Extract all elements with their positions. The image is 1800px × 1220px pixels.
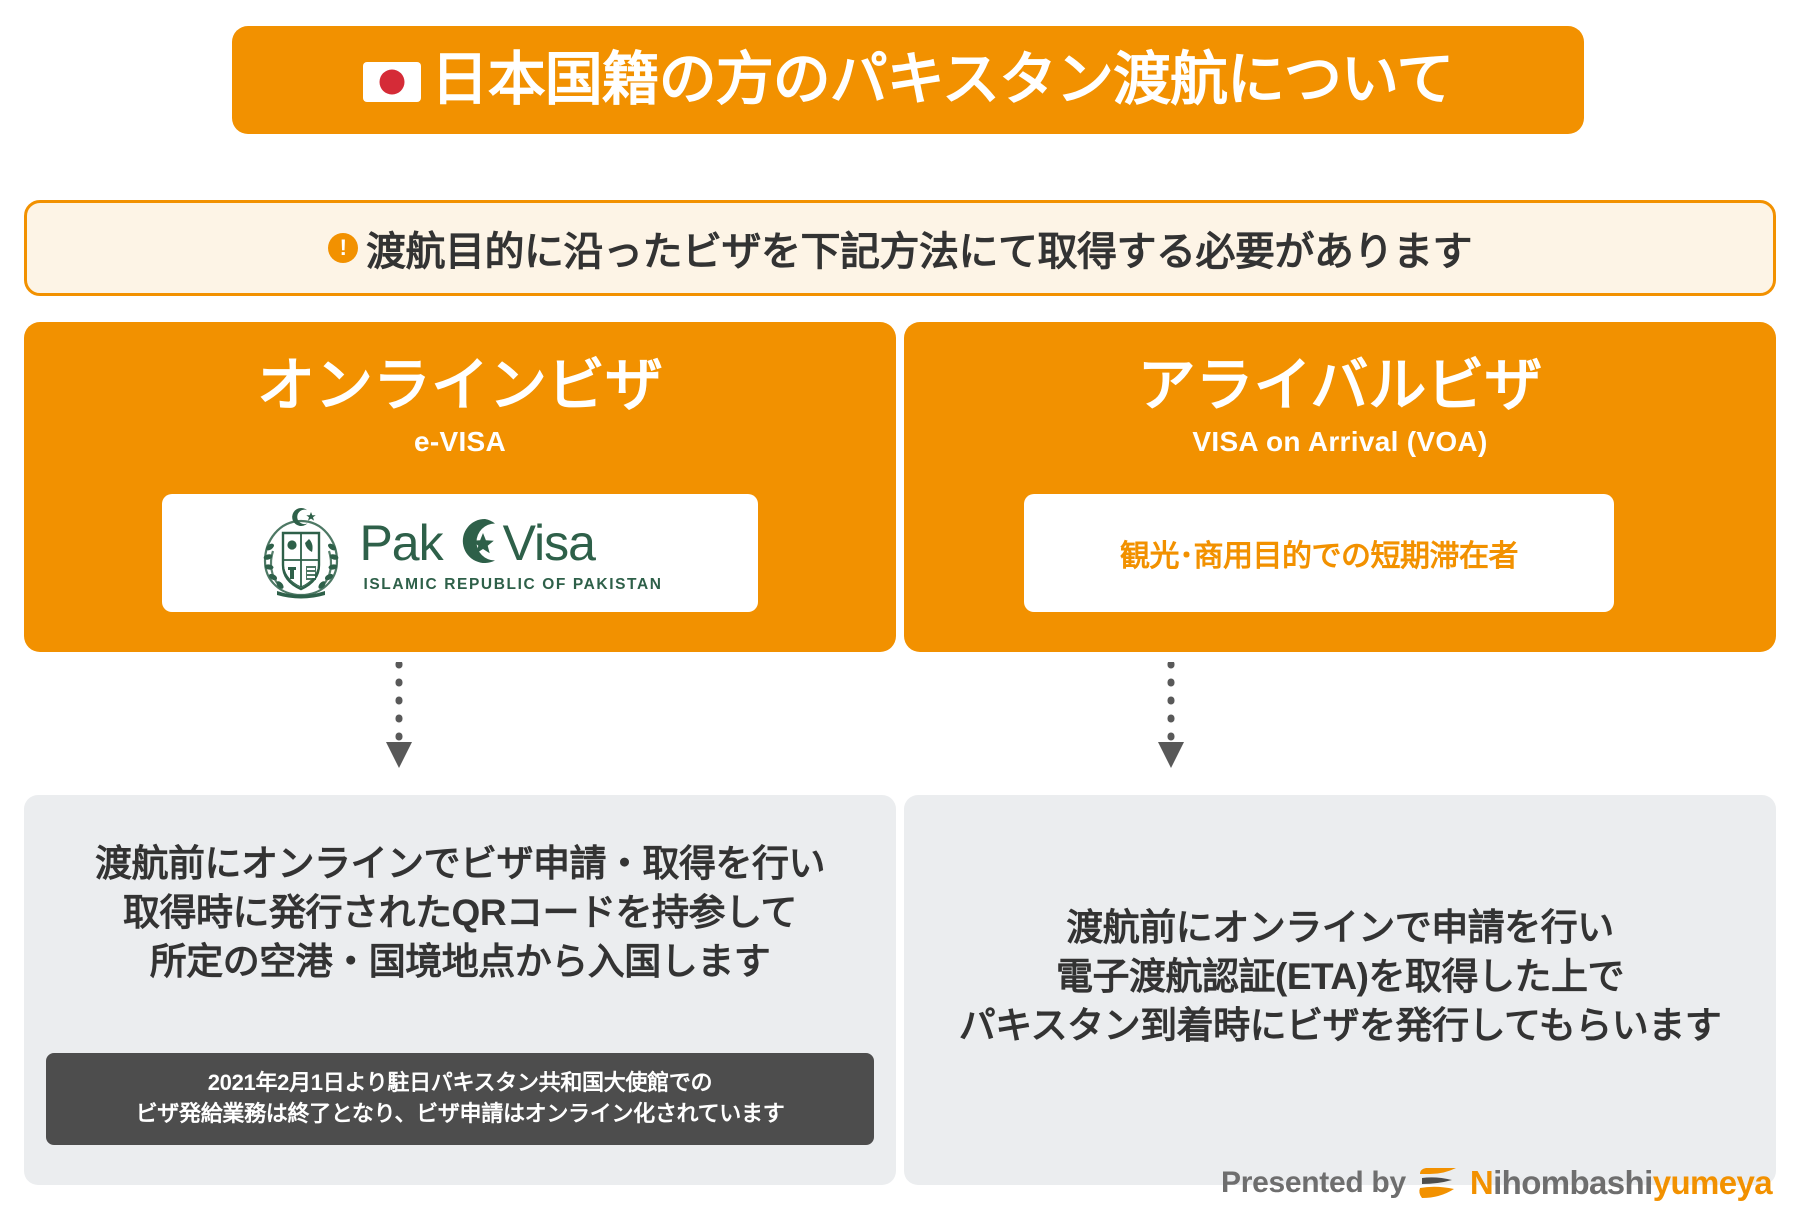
page-title: 日本国籍の方のパキスタン渡航について	[363, 51, 1454, 109]
brand-name-part-1: N	[1470, 1164, 1493, 1201]
online-visa-note-text: 2021年2月1日より駐日パキスタン共和国大使館での ビザ発給業務は終了となり、…	[46, 1067, 874, 1129]
page-title-text: 日本国籍の方のパキスタン渡航について	[431, 51, 1454, 109]
pak-visa-words: Pak Visa	[359, 513, 595, 573]
pak-visa-logo: Pak Visa ISLAMIC REPUBLIC OF PAKISTAN	[257, 507, 662, 599]
presented-by-label: Presented by	[1221, 1166, 1406, 1200]
page-title-bar: 日本国籍の方のパキスタン渡航について	[232, 26, 1584, 134]
card-visa-on-arrival: アライバルビザ VISA on Arrival (VOA) 観光･商用目的での短…	[904, 322, 1776, 652]
card-online-visa: オンラインビザ e-VISA	[24, 322, 896, 652]
card-online-visa-subtitle: e-VISA	[24, 426, 896, 458]
brand-name-part-3: yumeya	[1653, 1164, 1772, 1201]
pak-visa-word-pak: Pak	[359, 518, 442, 568]
result-text-visa-on-arrival: 渡航前にオンラインで申請を行い 電子渡航認証(ETA)を取得した上で パキスタン…	[904, 795, 1776, 1051]
voa-badge-box: 観光･商用目的での短期滞在者	[1024, 494, 1614, 612]
result-box-online-visa: 渡航前にオンラインでビザ申請・取得を行い 取得時に発行されたQRコードを持参して…	[24, 795, 896, 1185]
pak-visa-caption: ISLAMIC REPUBLIC OF PAKISTAN	[363, 576, 662, 594]
brand-name-part-2: ihombashi	[1493, 1164, 1653, 1201]
crescent-star-icon	[449, 515, 501, 575]
notice-banner: ! 渡航目的に沿ったビザを下記方法にて取得する必要があります	[24, 200, 1776, 296]
card-online-visa-title: オンラインビザ	[24, 354, 896, 418]
result-box-visa-on-arrival: 渡航前にオンラインで申請を行い 電子渡航認証(ETA)を取得した上で パキスタン…	[904, 795, 1776, 1185]
card-visa-on-arrival-subtitle: VISA on Arrival (VOA)	[904, 426, 1776, 458]
footer-credit: Presented by Nihombashiyumeya	[1221, 1164, 1772, 1202]
card-visa-on-arrival-title: アライバルビザ	[904, 354, 1776, 418]
notice-text: 渡航目的に沿ったビザを下記方法にて取得する必要があります	[366, 219, 1472, 277]
pak-visa-wordmark: Pak Visa ISLAMIC REPUBLIC OF PAKISTAN	[359, 513, 662, 594]
voa-badge-text: 観光･商用目的での短期滞在者	[1120, 531, 1518, 575]
pak-visa-word-visa: Visa	[503, 518, 595, 568]
pakistan-state-emblem-icon	[257, 507, 345, 599]
result-text-online-visa: 渡航前にオンラインでビザ申請・取得を行い 取得時に発行されたQRコードを持参して…	[24, 795, 896, 987]
pak-visa-logo-box: Pak Visa ISLAMIC REPUBLIC OF PAKISTAN	[162, 494, 758, 612]
brand-name: Nihombashiyumeya	[1470, 1164, 1772, 1202]
yumeya-wave-logo-icon	[1418, 1165, 1458, 1201]
dotted-down-arrow-icon-right	[1156, 662, 1186, 780]
dotted-down-arrow-icon-left	[384, 662, 414, 780]
japan-flag-icon	[363, 62, 421, 102]
notice-text-wrap: ! 渡航目的に沿ったビザを下記方法にて取得する必要があります	[328, 219, 1472, 277]
online-visa-note-box: 2021年2月1日より駐日パキスタン共和国大使館での ビザ発給業務は終了となり、…	[46, 1053, 874, 1145]
exclamation-mark-icon: !	[328, 233, 358, 263]
